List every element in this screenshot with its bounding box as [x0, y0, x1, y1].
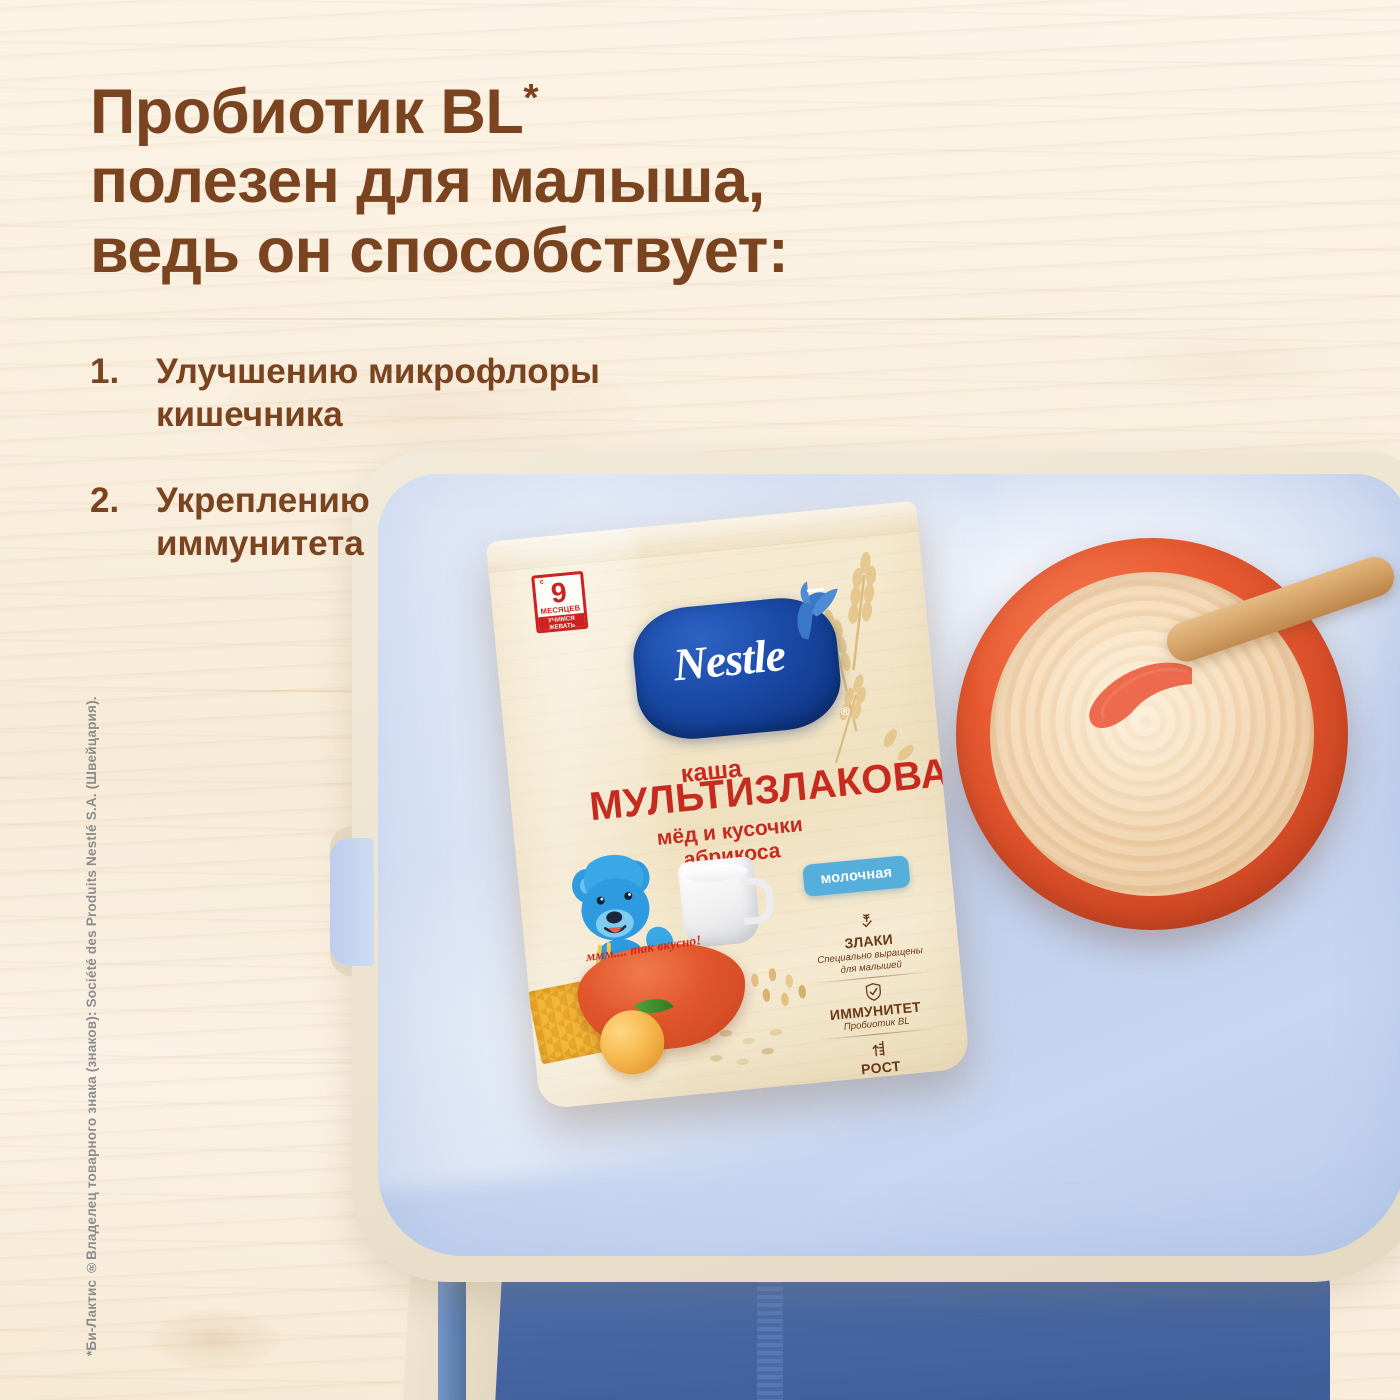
nestle-logo: Nestle ®: [618, 582, 854, 761]
nestle-wordmark-text: Nestle: [671, 628, 787, 691]
headline-asterisk: *: [523, 77, 538, 120]
wood-knot: [1120, 330, 1340, 400]
benefit-1-line1: Улучшению микрофлоры: [156, 350, 600, 393]
page-headline: Пробиотик BL* полезен для малыша, ведь о…: [90, 78, 910, 286]
headline-line-1: Пробиотик BL*: [90, 78, 910, 147]
advert-canvas: с 9 МЕСЯЦЕВ УЧИМСЯ ЖЕВАТЬ Nestle: [0, 0, 1400, 1400]
benefit-2-line1: Укреплению: [156, 479, 370, 522]
headline-line-2: полезен для малыша,: [90, 147, 910, 216]
baby-spoon-head: [1082, 652, 1198, 730]
benefit-1-line2: кишечника: [156, 393, 600, 436]
nestle-macron: [807, 588, 824, 593]
footnote-line-2: ®Владелец товарного знака (знаков): Soci…: [84, 696, 99, 1275]
high-chair-tray-tab: [330, 838, 374, 966]
benefit-list: 1. Улучшению микрофлоры кишечника 2. Укр…: [90, 350, 790, 608]
benefit-1-text: Улучшению микрофлоры кишечника: [156, 350, 600, 437]
nestle-registered-mark: ®: [840, 704, 850, 719]
benefit-1-number: 1.: [90, 350, 156, 393]
benefit-item-1: 1. Улучшению микрофлоры кишечника: [90, 350, 790, 437]
milk-badge: молочная: [802, 855, 910, 897]
milk-jug-rim: [685, 862, 748, 884]
benefit-2-text: Укреплению иммунитета: [156, 479, 370, 566]
legal-footnote: *Би-Лактис ®Владелец товарного знака (зн…: [84, 696, 99, 1356]
headline-line-3: ведь он способствует:: [90, 217, 910, 286]
benefit-2-number: 2.: [90, 479, 156, 522]
headline-line-1-text: Пробиотик BL: [90, 77, 523, 147]
benefit-item-2: 2. Укреплению иммунитета: [90, 479, 790, 566]
wood-knot: [150, 1310, 280, 1368]
benefit-2-line2: иммунитета: [156, 522, 370, 565]
footnote-line-1: *Би-Лактис: [84, 1280, 99, 1356]
